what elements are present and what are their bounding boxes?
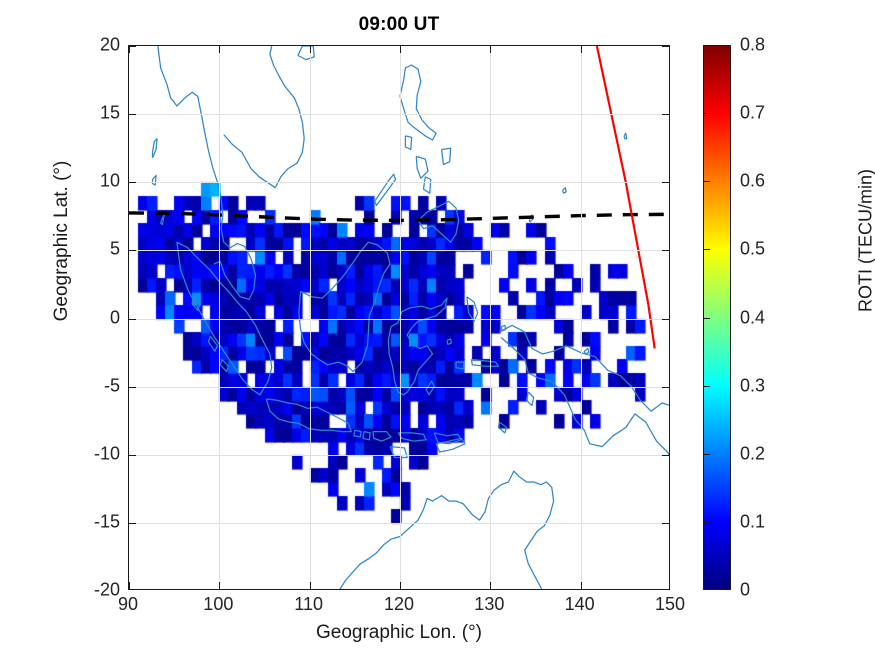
colorbar-tick-label: 0 bbox=[740, 580, 750, 601]
x-axis-label: Geographic Lon. (°) bbox=[128, 622, 670, 644]
y-tick-label: -20 bbox=[58, 580, 120, 601]
colorbar-tick bbox=[703, 454, 710, 455]
gridline-horizontal bbox=[129, 319, 669, 320]
plot-title: 09:00 UT bbox=[128, 14, 670, 36]
x-tick bbox=[490, 582, 491, 589]
gridline-vertical bbox=[219, 46, 220, 589]
x-tick bbox=[219, 582, 220, 589]
colorbar-tick bbox=[703, 113, 710, 114]
y-tick bbox=[129, 387, 136, 388]
gridline-vertical bbox=[581, 46, 582, 589]
colorbar-tick bbox=[703, 386, 710, 387]
y-tick-label: -10 bbox=[58, 443, 120, 464]
y-tick bbox=[129, 319, 136, 320]
colorbar-tick-label: 0.3 bbox=[740, 375, 765, 396]
colorbar-tick-label: 0.8 bbox=[740, 35, 765, 56]
x-tick-label: 90 bbox=[118, 594, 138, 615]
colorbar-tick bbox=[703, 249, 710, 250]
x-tick-label: 140 bbox=[565, 594, 595, 615]
colorbar-tick bbox=[703, 181, 710, 182]
y-tick-right bbox=[662, 387, 669, 388]
y-tick-label: 5 bbox=[58, 239, 120, 260]
x-tick-top bbox=[129, 46, 130, 53]
x-tick-label: 120 bbox=[384, 594, 414, 615]
y-tick-right bbox=[662, 523, 669, 524]
y-tick bbox=[129, 182, 136, 183]
y-tick-label: 15 bbox=[58, 103, 120, 124]
plot-area[interactable] bbox=[128, 45, 670, 590]
y-tick-right bbox=[662, 114, 669, 115]
gridline-vertical bbox=[400, 46, 401, 589]
x-tick-label: 110 bbox=[294, 594, 323, 615]
x-tick-label: 100 bbox=[203, 594, 233, 615]
y-tick-right bbox=[662, 46, 669, 47]
gridline-horizontal bbox=[129, 250, 669, 251]
x-tick-top bbox=[490, 46, 491, 53]
colorbar-tick-label: 0.6 bbox=[740, 171, 765, 192]
x-tick bbox=[310, 582, 311, 589]
x-tick-label: 150 bbox=[655, 594, 685, 615]
x-tick-top bbox=[219, 46, 220, 53]
colorbar-tick bbox=[703, 318, 710, 319]
colorbar-tick-label: 0.5 bbox=[740, 239, 765, 260]
x-tick bbox=[129, 582, 130, 589]
y-tick-right bbox=[662, 319, 669, 320]
x-tick-top bbox=[400, 46, 401, 53]
gridline-horizontal bbox=[129, 523, 669, 524]
colorbar-tick-label: 0.4 bbox=[740, 307, 765, 328]
x-tick bbox=[400, 582, 401, 589]
solar-terminator-line bbox=[597, 46, 655, 349]
figure-canvas: 09:00 UT Geographic Lon. (°) Geographic … bbox=[0, 0, 875, 657]
y-tick bbox=[129, 46, 136, 47]
plot-inner bbox=[129, 46, 669, 589]
y-tick bbox=[129, 523, 136, 524]
gridline-horizontal bbox=[129, 387, 669, 388]
y-tick-right bbox=[662, 250, 669, 251]
y-tick-label: -15 bbox=[58, 511, 120, 532]
y-tick bbox=[129, 250, 136, 251]
y-tick-label: 0 bbox=[58, 307, 120, 328]
y-tick bbox=[129, 455, 136, 456]
colorbar-tick bbox=[703, 522, 710, 523]
y-tick-label: 20 bbox=[58, 35, 120, 56]
y-tick-right bbox=[662, 455, 669, 456]
x-tick-top bbox=[581, 46, 582, 53]
gridline-horizontal bbox=[129, 114, 669, 115]
x-tick-top bbox=[310, 46, 311, 53]
y-tick-right bbox=[662, 182, 669, 183]
x-tick bbox=[581, 582, 582, 589]
colorbar-tick-label: 0.7 bbox=[740, 103, 765, 124]
gridline-vertical bbox=[310, 46, 311, 589]
gridline-vertical bbox=[490, 46, 491, 589]
x-tick-label: 130 bbox=[474, 594, 504, 615]
y-tick-label: 10 bbox=[58, 171, 120, 192]
colorbar-tick-label: 0.1 bbox=[740, 511, 765, 532]
y-tick-label: -5 bbox=[58, 375, 120, 396]
gridline-horizontal bbox=[129, 455, 669, 456]
gridline-horizontal bbox=[129, 182, 669, 183]
colorbar-tick-label: 0.2 bbox=[740, 443, 765, 464]
colorbar-label: ROTI (TECU/min) bbox=[856, 61, 875, 421]
y-tick bbox=[129, 114, 136, 115]
